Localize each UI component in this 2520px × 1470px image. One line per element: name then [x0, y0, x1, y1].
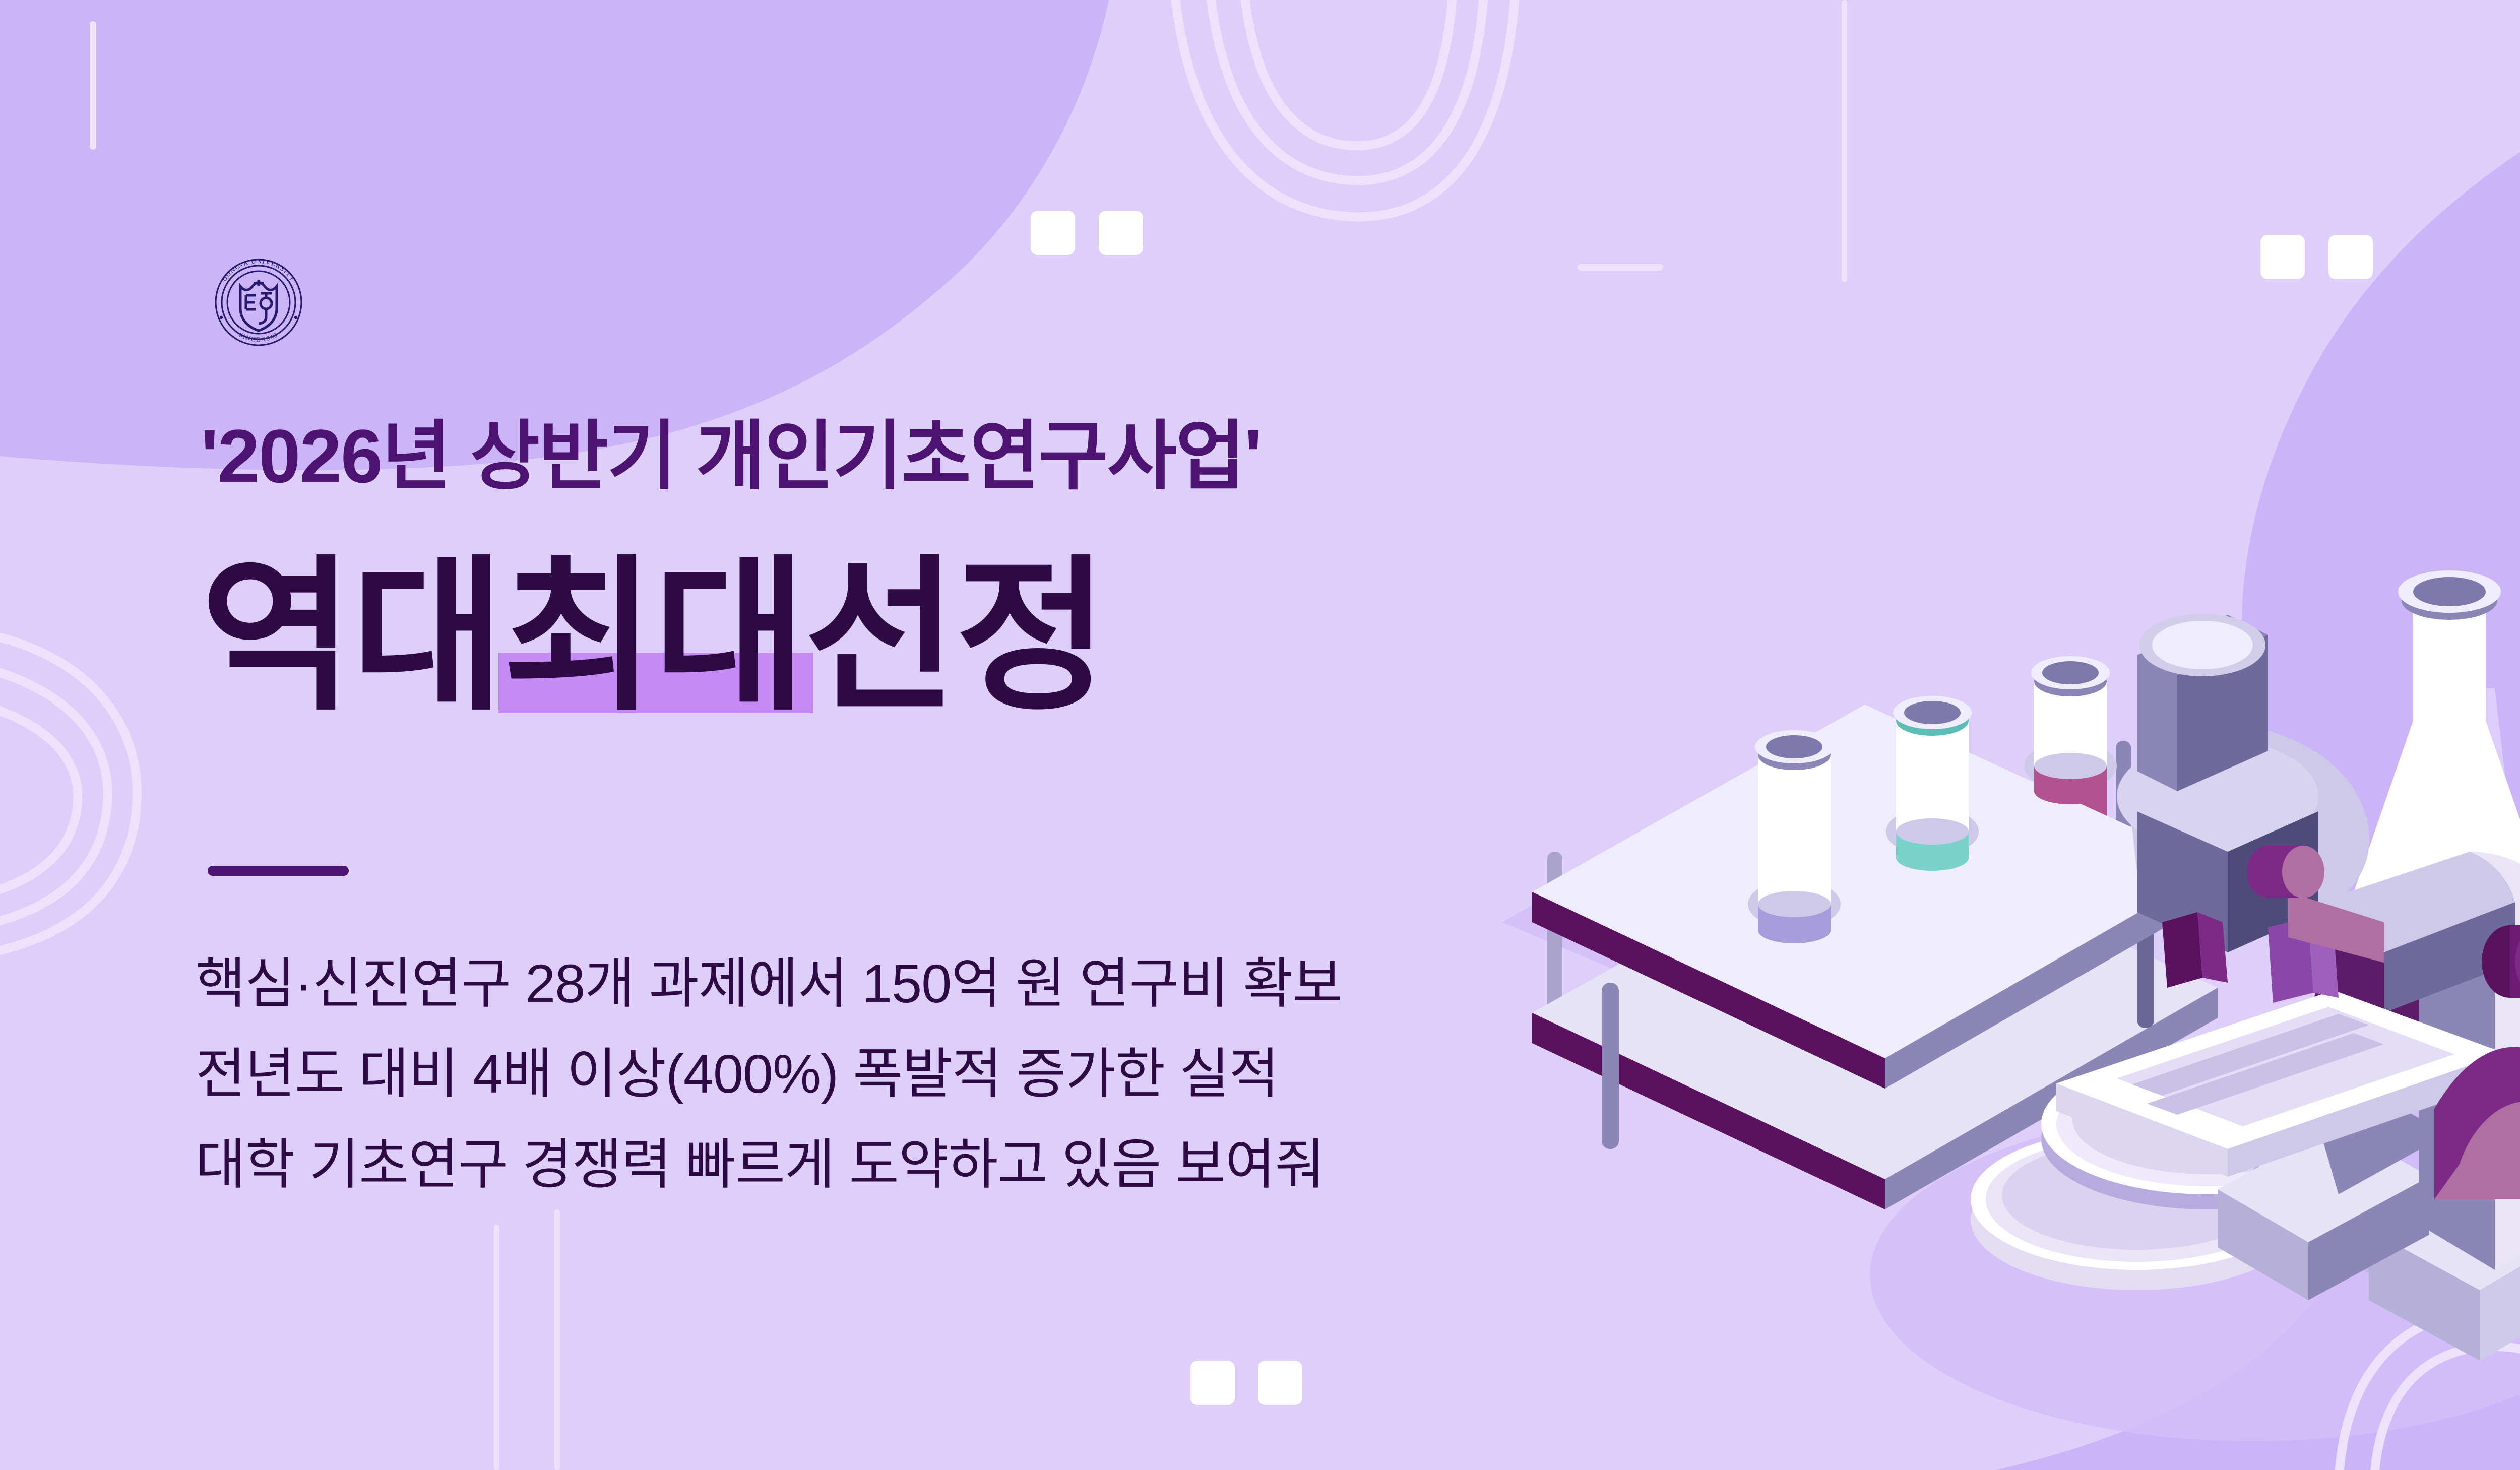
headline-part-3: 선정: [804, 547, 1106, 726]
svg-text:DONG-A UNIVERSITY: DONG-A UNIVERSITY: [220, 257, 297, 283]
content-layer: DONG-A UNIVERSITY SINCE 1946 '2026년 상반기 …: [0, 0, 2520, 1470]
page-title: 역대 최대 선정: [201, 547, 1107, 726]
dong-a-university-emblem-icon: DONG-A UNIVERSITY SINCE 1946: [185, 254, 332, 350]
body-line-3: 대학 기초연구 경쟁력 빠르게 도약하고 있음 보여줘: [196, 1119, 1342, 1209]
science-lab-illustration: [1482, 569, 2520, 1376]
divider: [208, 866, 349, 876]
logo-arc-bottom-text: SINCE 1946: [238, 331, 279, 343]
banner-root: DONG-A UNIVERSITY SINCE 1946 '2026년 상반기 …: [0, 0, 2520, 1470]
body-text-block: 핵심·신진연구 28개 과제에서 150억 원 연구비 확보 전년도 대비 4배…: [196, 938, 1342, 1209]
eyebrow-text: '2026년 상반기 개인기초연구사업': [201, 418, 1261, 494]
headline-highlighted: 최대: [502, 547, 804, 726]
body-line-1: 핵심·신진연구 28개 과제에서 150억 원 연구비 확보: [196, 938, 1342, 1029]
university-logo: DONG-A UNIVERSITY SINCE 1946: [185, 254, 332, 350]
svg-text:SINCE 1946: SINCE 1946: [238, 331, 279, 343]
headline-part-1: 역대: [201, 547, 502, 726]
science-lab-isometric-icon: [1482, 569, 2520, 1376]
logo-arc-top-text: DONG-A UNIVERSITY: [220, 257, 297, 283]
body-line-2: 전년도 대비 4배 이상(400%) 폭발적 증가한 실적: [196, 1029, 1342, 1119]
microscope-knob-small: [2247, 846, 2324, 898]
headline-row: 역대 최대 선정: [201, 547, 1107, 726]
